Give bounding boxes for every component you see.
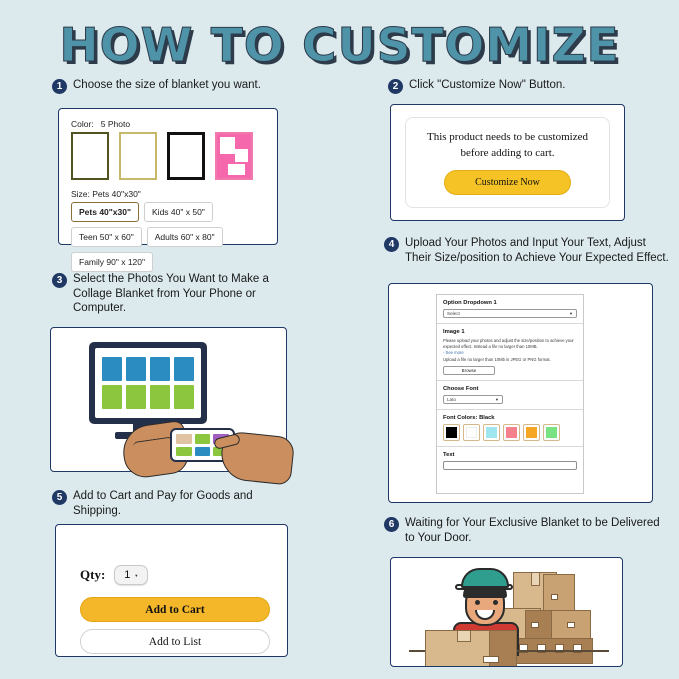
swatch-black-collage[interactable] [167,132,205,180]
step-2-header: 2 Click "Customize Now" Button. [388,78,668,94]
step-5-header: 5 Add to Cart and Pay for Goods and Ship… [52,489,302,518]
delivery-illustration [391,558,622,666]
chevron-down-icon: ▼ [134,573,138,578]
size-option-family[interactable]: Family 90" x 120" [71,252,153,272]
qty-stepper[interactable]: 1 ▼ [114,565,148,585]
step-4-header: 4 Upload Your Photos and Input Your Text… [384,236,669,265]
swatch-olive-6-grid[interactable] [71,132,109,180]
step-4-label: Upload Your Photos and Input Your Text, … [405,236,669,265]
customizer-form: Option Dropdown 1 Select ▼ Image 1 Pleas… [436,294,584,494]
customize-now-button[interactable]: Customize Now [444,170,571,195]
font-color-orange[interactable] [523,424,540,441]
monitor-icon [89,342,207,424]
step-6-badge: 6 [384,517,399,532]
color-swatch-list [71,132,253,180]
step-5-panel: Qty: 1 ▼ Add to Cart Add to List [55,524,288,657]
customize-prompt-card: This product needs to be customized befo… [405,117,610,208]
photo-selection-illustration [51,328,286,471]
swatch-pink-collage[interactable] [215,132,253,180]
box-label [551,594,558,600]
box-label [567,622,575,628]
size-label: Size: Pets 40"x30" [71,189,141,199]
option-dropdown-select[interactable]: Select ▼ [443,309,577,318]
quantity-row: Qty: 1 ▼ [80,565,148,585]
step-5-label: Add to Cart and Pay for Goods and Shippi… [73,489,302,518]
step-4-badge: 4 [384,237,399,252]
font-color-pink[interactable] [503,424,520,441]
color-label-text: Color: [71,119,94,129]
monitor-screen [95,348,201,418]
chevron-down-icon: ▼ [495,397,499,402]
font-color-section: Font Colors: Black [437,410,583,447]
size-option-list: Pets 40"x30" Kids 40" x 50" Teen 50" x 6… [71,202,281,272]
step-6-label: Waiting for Your Exclusive Blanket to be… [405,516,664,545]
step-6-header: 6 Waiting for Your Exclusive Blanket to … [384,516,664,545]
image-upload-section: Image 1 Please upload your photos and ad… [437,324,583,381]
qty-value: 1 [124,569,130,581]
step-2-panel: This product needs to be customized befo… [390,104,625,221]
font-colors-label: Font Colors: Black [443,415,577,421]
image-help-text: Please upload your photos and adjust the… [443,338,577,350]
add-to-list-button[interactable]: Add to List [80,629,270,654]
option-dropdown-section: Option Dropdown 1 Select ▼ [437,295,583,324]
customize-message: This product needs to be customized befo… [418,130,597,162]
step-3-label: Select the Photos You Want to Make a Col… [73,272,302,316]
step-3-panel [50,327,287,472]
font-color-black[interactable] [443,424,460,441]
choose-font-label: Choose Font [443,386,577,392]
size-option-pets[interactable]: Pets 40"x30" [71,202,139,222]
font-color-swatches [443,424,577,441]
eye-right [493,600,498,605]
step-4-panel: Option Dropdown 1 Select ▼ Image 1 Pleas… [388,283,653,503]
held-box-label [483,656,499,663]
chevron-down-icon: ▼ [569,311,573,316]
step-2-badge: 2 [388,79,403,94]
upload-note: Upload a file no larger than 10Mb in JPE… [443,357,577,363]
step-1-panel: Color: 5 Photo Size: Pets 40"x30" Pets 4… [58,108,278,245]
font-color-green[interactable] [543,424,560,441]
font-color-white[interactable] [463,424,480,441]
eye-left [475,600,480,605]
image-label: Image 1 [443,329,577,335]
step-2-label: Click "Customize Now" Button. [409,78,565,93]
box-top-right [543,574,575,612]
step-1-badge: 1 [52,79,67,94]
step-5-badge: 5 [52,490,67,505]
swatch-tan-6-grid[interactable] [119,132,157,180]
font-color-cyan[interactable] [483,424,500,441]
box-tape [531,572,540,586]
font-section: Choose Font Lato ▼ [437,381,583,410]
text-input-section: Text [437,447,583,475]
step-3-header: 3 Select the Photos You Want to Make a C… [52,272,302,316]
infographic-page: HOW TO CUSTOMIZE 1 Choose the size of bl… [0,0,679,679]
color-label: Color: 5 Photo [71,119,130,129]
step-1-label: Choose the size of blanket you want. [73,78,261,93]
step-3-badge: 3 [52,273,67,288]
see-more-link[interactable]: - See more [443,350,577,355]
step-6-panel [390,557,623,667]
option-dropdown-label: Option Dropdown 1 [443,300,577,306]
font-value: Lato [447,397,456,402]
option-dropdown-value: Select [447,311,460,316]
size-option-teen[interactable]: Teen 50" x 60" [71,227,142,247]
page-title: HOW TO CUSTOMIZE [0,18,679,72]
qty-label: Qty: [80,567,105,583]
size-option-kids[interactable]: Kids 40" x 50" [144,202,213,222]
size-option-adults[interactable]: Adults 60" x 80" [147,227,223,247]
add-to-cart-button[interactable]: Add to Cart [80,597,270,622]
browse-button[interactable]: Browse [443,366,495,375]
font-select[interactable]: Lato ▼ [443,395,503,404]
held-box-tape [457,630,471,642]
delivery-cap-icon [461,568,509,588]
text-input[interactable] [443,461,577,470]
text-label: Text [443,452,577,458]
step-1-header: 1 Choose the size of blanket you want. [52,78,352,94]
color-value: 5 Photo [101,119,130,129]
box-label [531,622,539,628]
